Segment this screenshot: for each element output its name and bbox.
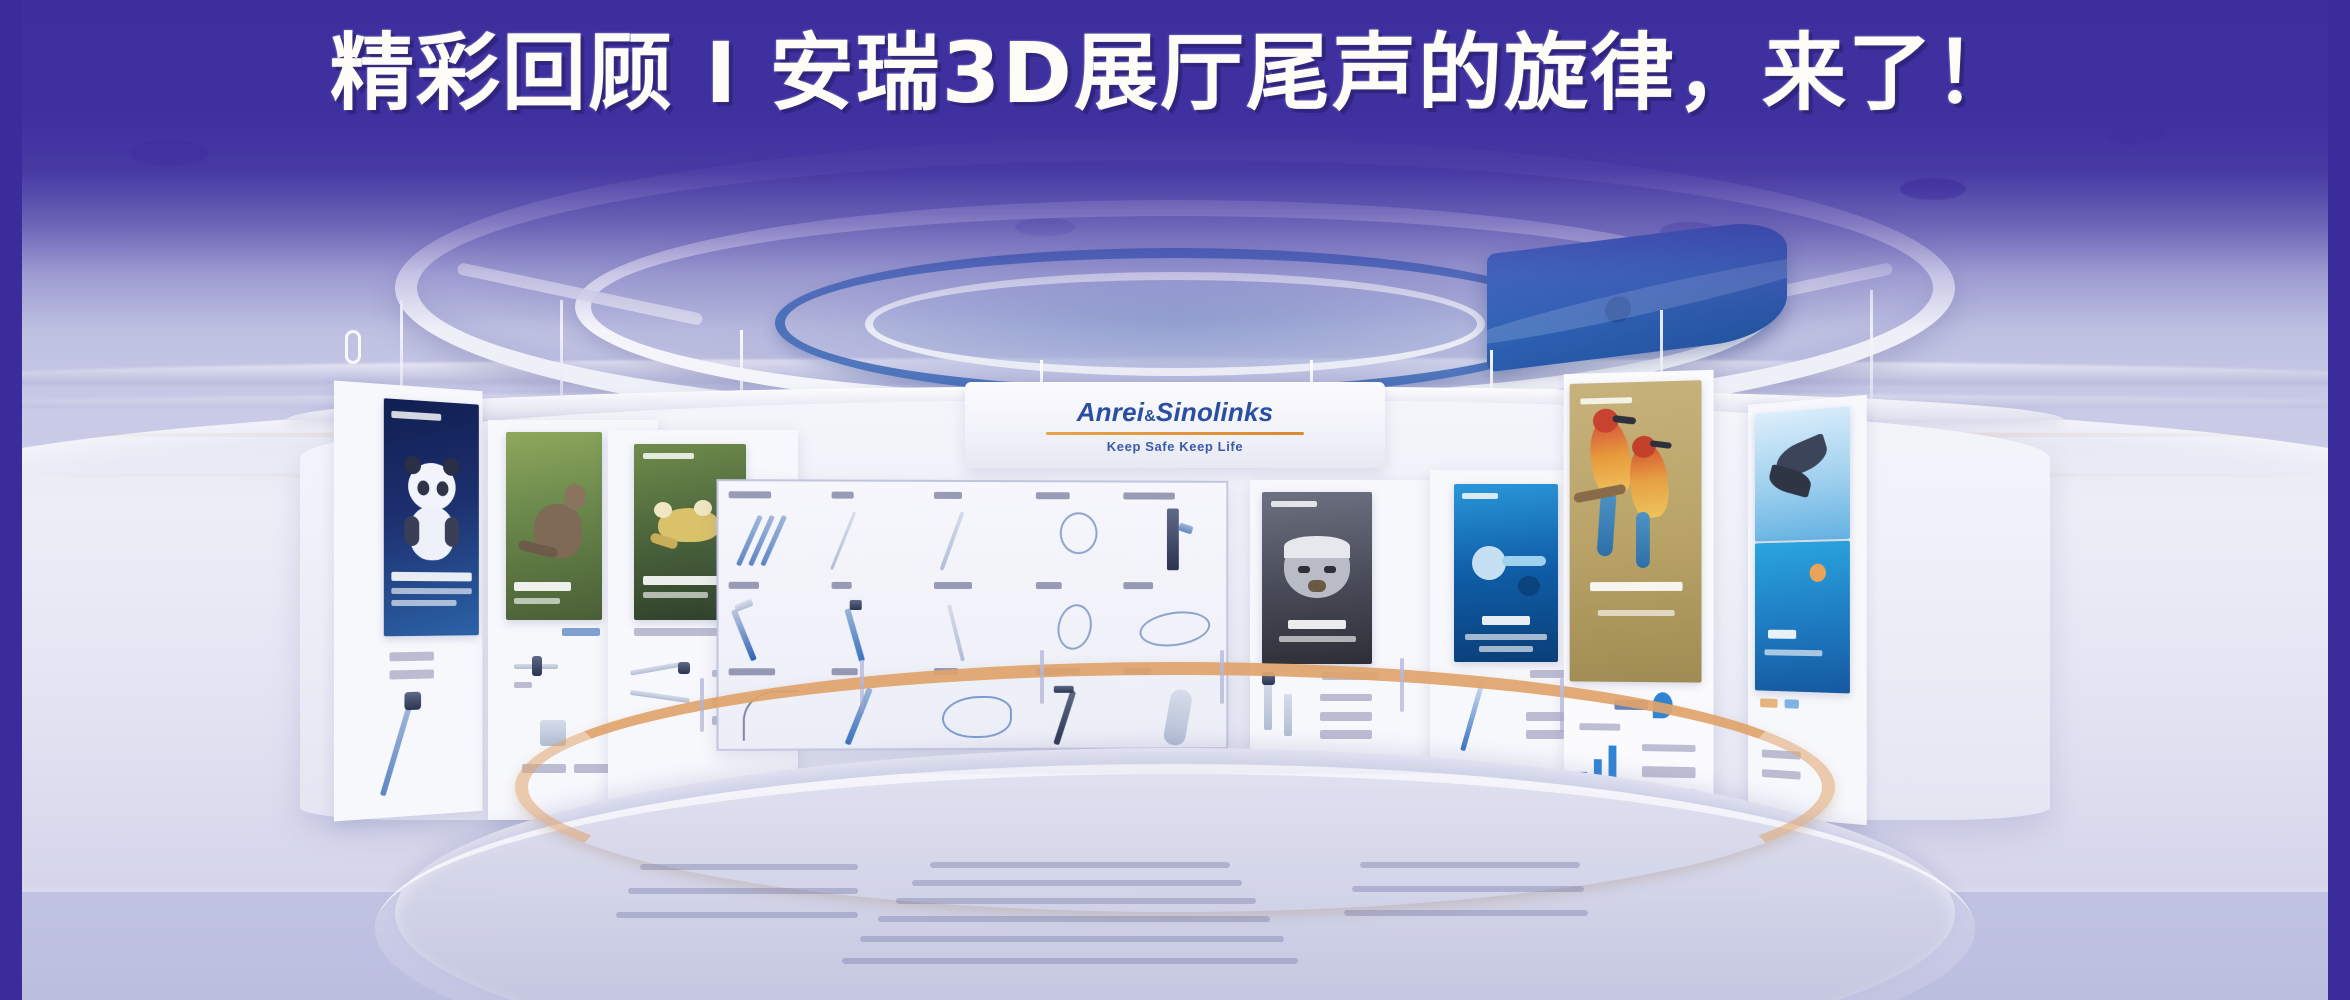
- page-title: 精彩回顾 I 安瑞3D展厅尾声的旋律，来了！: [0, 28, 2350, 119]
- railing-post: [1400, 658, 1404, 712]
- poster-caption-primary: [1288, 620, 1345, 629]
- poster-brand-line: [643, 453, 695, 459]
- railing-post: [700, 678, 704, 732]
- product-cell[interactable]: [828, 578, 930, 668]
- poster-caption-primary: [1590, 582, 1682, 591]
- poster-eagle-bottom[interactable]: [1755, 541, 1850, 694]
- card-line-a: [389, 652, 433, 662]
- bird-tail-icon: [1636, 512, 1650, 568]
- poster-caption-secondary: [1279, 636, 1356, 642]
- product-label: [934, 582, 972, 589]
- frog-eye-icon: [654, 502, 672, 518]
- poster-footer-label: [562, 628, 600, 636]
- hanger-ring-icon: [345, 330, 361, 364]
- poster-caption-primary: [643, 576, 721, 585]
- brand-name-anrei: Anrei: [1077, 397, 1144, 427]
- product-label: [729, 491, 771, 498]
- brand-logo-plate: Anrei&Sinolinks Keep Safe Keep Life: [965, 382, 1385, 468]
- card-line-b: [389, 669, 433, 679]
- product-label: [934, 492, 962, 499]
- poster-brand-line: [1462, 493, 1497, 499]
- poster-eagle-top[interactable]: [1755, 406, 1850, 541]
- product-label: [832, 668, 858, 675]
- product-illustration: [1178, 523, 1194, 535]
- banner-dot-icon: [1605, 295, 1631, 324]
- panda-eye-icon: [437, 481, 449, 496]
- device-illustration: [630, 690, 690, 703]
- product-cell[interactable]: [930, 488, 1032, 578]
- sun-icon: [1810, 564, 1826, 582]
- poster-caption-secondary: [1764, 649, 1822, 656]
- floor-text-line: [640, 864, 858, 870]
- poster-caption-primary: [514, 582, 572, 591]
- loop-snare-illustration: [1137, 607, 1212, 650]
- floor-text-line: [860, 936, 1284, 942]
- device-head-illustration: [532, 656, 542, 676]
- product-cell[interactable]: [1119, 578, 1224, 668]
- product-illustration: [947, 604, 965, 661]
- device-illustration: [630, 661, 684, 675]
- product-label: [729, 668, 775, 675]
- poster-bee-eater[interactable]: [1570, 380, 1702, 682]
- product-illustration: [830, 511, 856, 570]
- badger-snout-icon: [1308, 580, 1326, 592]
- ring-core: [865, 272, 1485, 376]
- brand-tagline: Keep Safe Keep Life: [1107, 439, 1243, 454]
- poster-footer-label: [1760, 698, 1777, 708]
- badger-eye-icon: [1324, 566, 1336, 573]
- frog-eye-icon: [694, 500, 712, 516]
- product-illustration: [1167, 509, 1179, 571]
- floor-text-line: [1360, 862, 1580, 868]
- product-cell[interactable]: [725, 578, 828, 669]
- product-label: [1036, 492, 1070, 499]
- bird-tail-icon: [1597, 490, 1617, 557]
- poster-brand-line: [1580, 397, 1632, 404]
- poster-caption-primary: [1768, 630, 1796, 639]
- device-head-illustration: [404, 692, 421, 711]
- product-cell[interactable]: [1032, 578, 1133, 668]
- poster-brand-line: [392, 411, 442, 421]
- poster-brand-line: [1271, 501, 1317, 507]
- poster-panda[interactable]: [384, 398, 479, 636]
- device-illustration: [380, 705, 412, 796]
- product-illustration: [850, 600, 862, 610]
- railing-post: [1560, 678, 1564, 732]
- product-label: [832, 492, 854, 499]
- product-label: [1036, 582, 1062, 589]
- product-illustration: [731, 609, 757, 662]
- brand-underline: [1046, 432, 1304, 435]
- exhibition-hall-scene: Anrei&Sinolinks Keep Safe Keep Life: [0, 0, 2350, 1000]
- product-label: [729, 582, 759, 589]
- poster-kangaroo[interactable]: [506, 432, 602, 620]
- railing-post: [1040, 650, 1044, 704]
- poster-caption-secondary: [1479, 646, 1533, 652]
- badger-crown-icon: [1284, 536, 1350, 558]
- floor-text-line: [842, 958, 1298, 964]
- floor-text-line: [878, 916, 1270, 922]
- product-label: [1123, 582, 1153, 589]
- poster-footer-label: [634, 628, 718, 636]
- panel-panda[interactable]: [334, 380, 482, 821]
- poster-caption-secondary: [392, 600, 457, 606]
- product-illustration: [940, 511, 965, 571]
- brand-name-sinolinks: Sinolinks: [1156, 397, 1273, 427]
- floor-text-line: [930, 862, 1230, 868]
- fish-body-icon: [1518, 576, 1540, 596]
- floor-text-line: [1352, 886, 1584, 892]
- device-head-illustration: [678, 662, 690, 674]
- railing-post: [860, 660, 864, 714]
- product-cell[interactable]: [1032, 488, 1133, 578]
- balloon-icon: [1472, 546, 1506, 580]
- floor-text-line: [616, 912, 858, 918]
- product-cell[interactable]: [725, 487, 828, 578]
- panda-eye-icon: [417, 480, 429, 495]
- poster-honey-badger[interactable]: [1262, 492, 1372, 664]
- poster-caption-secondary: [392, 588, 472, 594]
- device-label: [514, 682, 532, 688]
- product-label: [1123, 492, 1175, 499]
- kangaroo-head-icon: [564, 484, 586, 510]
- poster-caption-secondary: [643, 592, 708, 598]
- poster-footer-label: [1785, 699, 1799, 708]
- poster-caption-primary: [1482, 616, 1530, 625]
- platform-railing: [515, 662, 1835, 912]
- floor-text-line: [896, 898, 1256, 904]
- floor-text-line: [912, 880, 1242, 886]
- panda-arm-icon: [445, 517, 459, 547]
- panda-arm-icon: [404, 516, 419, 546]
- panda-ear-icon: [443, 458, 459, 476]
- badger-eye-icon: [1298, 566, 1310, 573]
- loop-snare-illustration: [1060, 512, 1098, 554]
- poster-caption-secondary: [1465, 634, 1546, 640]
- catheter-shaft-icon: [1502, 556, 1546, 566]
- brand-logo-text: Anrei&Sinolinks: [1077, 397, 1274, 428]
- poster-caption-secondary: [514, 598, 560, 604]
- loop-snare-illustration: [1053, 601, 1096, 653]
- product-illustration: [734, 599, 754, 612]
- floor-text-line: [628, 888, 858, 894]
- exhibition-banner: Anrei&Sinolinks Keep Safe Keep Life: [0, 0, 2350, 1000]
- brand-ampersand: &: [1144, 408, 1156, 425]
- poster-caption-secondary: [1598, 610, 1675, 616]
- panda-ear-icon: [404, 456, 421, 475]
- ceiling-spotlight-icon: [130, 140, 208, 166]
- floor-text-line: [1344, 910, 1588, 916]
- product-cell[interactable]: [828, 488, 930, 578]
- product-cell[interactable]: [1119, 488, 1224, 578]
- railing-post: [1220, 650, 1224, 704]
- right-edge-band: [2328, 0, 2350, 1000]
- poster-caption-primary: [392, 572, 472, 582]
- left-edge-band: [0, 0, 22, 1000]
- product-illustration: [844, 608, 865, 662]
- product-label: [832, 582, 852, 589]
- product-cell[interactable]: [930, 578, 1032, 668]
- poster-puffer-fish[interactable]: [1454, 484, 1558, 662]
